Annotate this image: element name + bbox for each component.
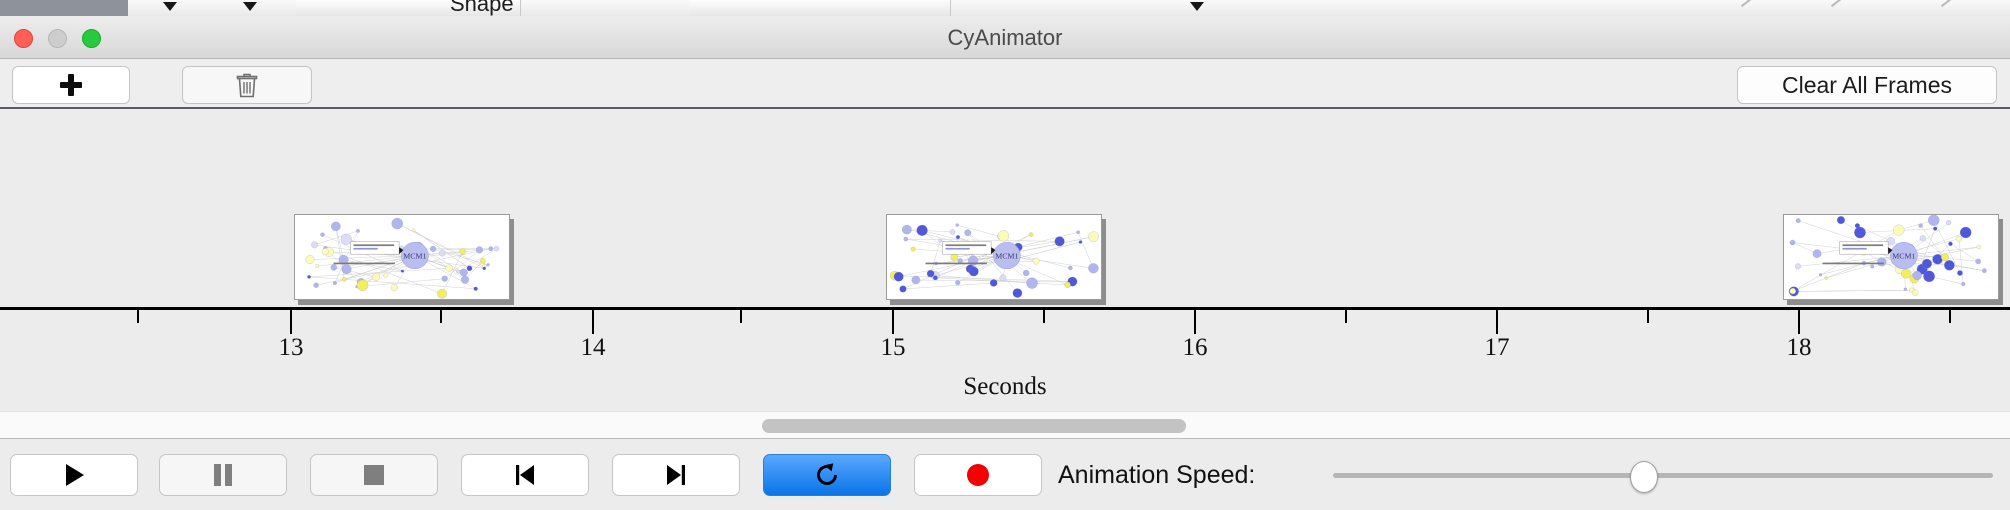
- add-frame-button[interactable]: [12, 66, 130, 104]
- network-graph: MCM1: [1784, 215, 1998, 299]
- background-window-label: Shape: [450, 0, 514, 17]
- timeline-frame-thumbnail[interactable]: MCM1: [294, 214, 510, 300]
- axis-tick-label: 18: [1787, 334, 1812, 362]
- axis-tick-label: 17: [1485, 334, 1510, 362]
- axis-tick-label: 15: [881, 334, 906, 362]
- trash-icon: [236, 72, 258, 98]
- animation-speed-label: Animation Speed:: [1058, 440, 1255, 510]
- background-caret-icon: [163, 2, 177, 11]
- frame-image: MCM1: [294, 214, 510, 300]
- background-active-tab: [0, 0, 128, 16]
- axis-tick: [892, 310, 894, 334]
- axis-tick: [1043, 310, 1045, 323]
- play-button[interactable]: [10, 454, 138, 496]
- window-title: CyAnimator: [0, 16, 2010, 59]
- axis-title: Seconds: [0, 373, 2010, 401]
- scrollbar-thumb[interactable]: [762, 419, 1186, 433]
- toolbar: Clear All Frames: [0, 59, 2010, 109]
- skip-end-icon: [663, 462, 689, 488]
- background-window-strip: Shape: [0, 0, 2010, 17]
- axis-tick-label: 14: [581, 334, 606, 362]
- axis-tick: [1647, 310, 1649, 323]
- svg-text:MCM1: MCM1: [403, 251, 426, 260]
- background-segment: [690, 0, 951, 16]
- slider-thumb[interactable]: [1630, 461, 1658, 493]
- skip-start-icon: [512, 462, 538, 488]
- cyanimator-window: Shape CyAnimator Clear All Frames: [0, 0, 2010, 510]
- svg-text:MCM1: MCM1: [1892, 251, 1915, 260]
- axis-tick: [740, 310, 742, 323]
- loop-icon: [813, 461, 841, 489]
- animation-speed-slider[interactable]: [1333, 454, 1993, 496]
- play-icon: [61, 462, 87, 488]
- axis-tick-label: 16: [1183, 334, 1208, 362]
- background-segment: [296, 0, 421, 16]
- playback-bar: Animation Speed:: [0, 440, 2010, 510]
- frame-image: MCM1: [1783, 214, 1999, 300]
- timeline-panel[interactable]: MCM1MCM1MCM1 2131415161718 Seconds: [0, 111, 2010, 411]
- timeline-axis: [0, 307, 2010, 310]
- timeline-scrollbar[interactable]: [0, 411, 2010, 439]
- slider-track[interactable]: [1333, 473, 1993, 478]
- pause-button[interactable]: [159, 454, 287, 496]
- timeline-frame-thumbnail[interactable]: MCM1: [1783, 214, 1999, 300]
- background-caret-icon: [1190, 2, 1204, 11]
- loop-button[interactable]: [763, 454, 891, 496]
- axis-tick-label: 13: [279, 334, 304, 362]
- axis-tick: [1345, 310, 1347, 323]
- frame-image: MCM1: [886, 214, 1102, 300]
- axis-tick: [1798, 310, 1800, 334]
- network-graph: MCM1: [887, 215, 1101, 299]
- pause-icon: [211, 462, 235, 488]
- record-button[interactable]: [914, 454, 1042, 496]
- axis-tick: [137, 310, 139, 323]
- stop-button[interactable]: [310, 454, 438, 496]
- svg-text:MCM1: MCM1: [995, 251, 1018, 260]
- record-icon: [965, 462, 991, 488]
- axis-tick: [1194, 310, 1196, 334]
- stop-icon: [362, 463, 386, 487]
- background-caret-icon: [243, 2, 257, 11]
- title-bar[interactable]: CyAnimator: [0, 16, 2010, 59]
- clear-all-frames-button[interactable]: Clear All Frames: [1737, 66, 1997, 104]
- axis-tick: [290, 310, 292, 334]
- skip-end-button[interactable]: [612, 454, 740, 496]
- axis-tick: [592, 310, 594, 334]
- network-graph: MCM1: [295, 215, 509, 299]
- timeline-frame-thumbnail[interactable]: MCM1: [886, 214, 1102, 300]
- delete-frame-button[interactable]: [182, 66, 312, 104]
- axis-tick: [1949, 310, 1951, 323]
- plus-icon: [60, 74, 82, 96]
- axis-tick: [440, 310, 442, 323]
- axis-tick: [1496, 310, 1498, 334]
- skip-start-button[interactable]: [461, 454, 589, 496]
